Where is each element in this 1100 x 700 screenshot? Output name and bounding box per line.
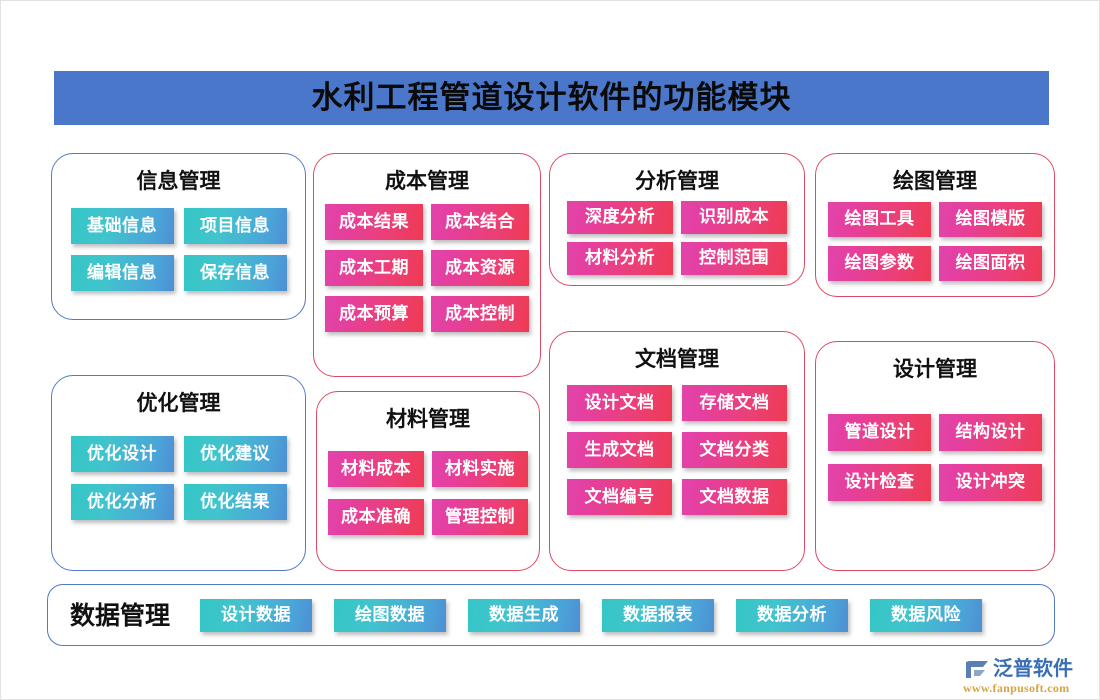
data-item-button[interactable]: 数据生成: [468, 599, 580, 632]
module-item-button[interactable]: 设计冲突: [939, 464, 1042, 501]
module-item-button[interactable]: 控制范围: [681, 242, 787, 275]
module-item-button[interactable]: 材料成本: [328, 451, 424, 487]
fanpu-logo-icon: [963, 656, 991, 681]
module-item-button[interactable]: 项目信息: [184, 208, 287, 244]
module-title: 文档管理: [550, 348, 804, 369]
module-card-design-management[interactable]: 设计管理 管道设计 结构设计 设计检查 设计冲突: [815, 341, 1055, 571]
module-item-button[interactable]: 文档数据: [682, 479, 787, 515]
module-item-button[interactable]: 优化分析: [71, 484, 174, 520]
module-button-grid: 设计文档 存储文档 生成文档 文档分类 文档编号 文档数据: [550, 385, 804, 515]
module-item-button[interactable]: 绘图参数: [828, 246, 931, 281]
module-item-button[interactable]: 基础信息: [71, 208, 174, 244]
module-item-button[interactable]: 管理控制: [432, 499, 528, 535]
module-item-button[interactable]: 存储文档: [682, 385, 787, 421]
module-button-grid: 深度分析 识别成本 材料分析 控制范围: [550, 201, 804, 275]
logo-row: 泛普软件: [963, 655, 1095, 681]
module-item-button[interactable]: 优化结果: [184, 484, 287, 520]
module-button-grid: 管道设计 结构设计 设计检查 设计冲突: [816, 414, 1054, 501]
module-item-button[interactable]: 材料实施: [432, 451, 528, 487]
module-card-info-management[interactable]: 信息管理 基础信息 项目信息 编辑信息 保存信息: [51, 153, 306, 320]
module-item-button[interactable]: 编辑信息: [71, 255, 174, 291]
module-item-button[interactable]: 成本工期: [325, 250, 423, 286]
brand-logo: 泛普软件 www.fanpusoft.com: [963, 655, 1095, 699]
module-item-button[interactable]: 生成文档: [567, 432, 672, 468]
module-item-button[interactable]: 文档编号: [567, 479, 672, 515]
data-management-bar[interactable]: 数据管理 设计数据 绘图数据 数据生成 数据报表 数据分析 数据风险: [47, 584, 1055, 646]
data-item-button[interactable]: 绘图数据: [334, 599, 446, 632]
module-title: 材料管理: [317, 408, 539, 429]
module-item-button[interactable]: 管道设计: [828, 414, 931, 451]
data-item-button[interactable]: 设计数据: [200, 599, 312, 632]
module-button-grid: 绘图工具 绘图模版 绘图参数 绘图面积: [816, 202, 1054, 281]
module-item-button[interactable]: 绘图面积: [939, 246, 1042, 281]
module-button-grid: 优化设计 优化建议 优化分析 优化结果: [52, 436, 305, 520]
module-title: 优化管理: [52, 392, 305, 413]
module-item-button[interactable]: 保存信息: [184, 255, 287, 291]
module-card-analysis-management[interactable]: 分析管理 深度分析 识别成本 材料分析 控制范围: [549, 153, 805, 286]
page-title: 水利工程管道设计软件的功能模块: [312, 83, 792, 114]
module-title: 成本管理: [314, 170, 540, 191]
data-bar-title: 数据管理: [70, 603, 170, 628]
module-item-button[interactable]: 文档分类: [682, 432, 787, 468]
module-card-material-management[interactable]: 材料管理 材料成本 材料实施 成本准确 管理控制: [316, 391, 540, 571]
module-item-button[interactable]: 设计文档: [567, 385, 672, 421]
diagram-canvas: 水利工程管道设计软件的功能模块 信息管理 基础信息 项目信息 编辑信息 保存信息…: [0, 0, 1100, 700]
module-title: 设计管理: [816, 358, 1054, 379]
module-item-button[interactable]: 识别成本: [681, 201, 787, 234]
module-item-button[interactable]: 成本资源: [431, 250, 529, 286]
module-item-button[interactable]: 深度分析: [567, 201, 673, 234]
module-card-drawing-management[interactable]: 绘图管理 绘图工具 绘图模版 绘图参数 绘图面积: [815, 153, 1055, 297]
module-item-button[interactable]: 优化建议: [184, 436, 287, 472]
module-title: 分析管理: [550, 170, 804, 191]
module-item-button[interactable]: 成本准确: [328, 499, 424, 535]
module-button-grid: 成本结果 成本结合 成本工期 成本资源 成本预算 成本控制: [314, 204, 540, 332]
module-item-button[interactable]: 成本控制: [431, 296, 529, 332]
logo-wordmark: 泛普软件: [993, 658, 1073, 678]
page-title-banner: 水利工程管道设计软件的功能模块: [54, 71, 1049, 125]
module-button-grid: 基础信息 项目信息 编辑信息 保存信息: [52, 208, 305, 291]
module-card-optimization-management[interactable]: 优化管理 优化设计 优化建议 优化分析 优化结果: [51, 375, 306, 571]
module-title: 信息管理: [52, 170, 305, 191]
data-item-button[interactable]: 数据分析: [736, 599, 848, 632]
module-item-button[interactable]: 结构设计: [939, 414, 1042, 451]
module-item-button[interactable]: 成本结合: [431, 204, 529, 240]
logo-url: www.fanpusoft.com: [963, 682, 1095, 694]
module-item-button[interactable]: 设计检查: [828, 464, 931, 501]
module-item-button[interactable]: 材料分析: [567, 242, 673, 275]
module-card-cost-management[interactable]: 成本管理 成本结果 成本结合 成本工期 成本资源 成本预算 成本控制: [313, 153, 541, 377]
data-item-button[interactable]: 数据报表: [602, 599, 714, 632]
module-title: 绘图管理: [816, 170, 1054, 191]
module-item-button[interactable]: 成本结果: [325, 204, 423, 240]
module-button-grid: 材料成本 材料实施 成本准确 管理控制: [317, 451, 539, 535]
module-item-button[interactable]: 优化设计: [71, 436, 174, 472]
module-item-button[interactable]: 绘图模版: [939, 202, 1042, 237]
module-item-button[interactable]: 成本预算: [325, 296, 423, 332]
module-card-document-management[interactable]: 文档管理 设计文档 存储文档 生成文档 文档分类 文档编号 文档数据: [549, 331, 805, 571]
module-item-button[interactable]: 绘图工具: [828, 202, 931, 237]
data-item-button[interactable]: 数据风险: [870, 599, 982, 632]
